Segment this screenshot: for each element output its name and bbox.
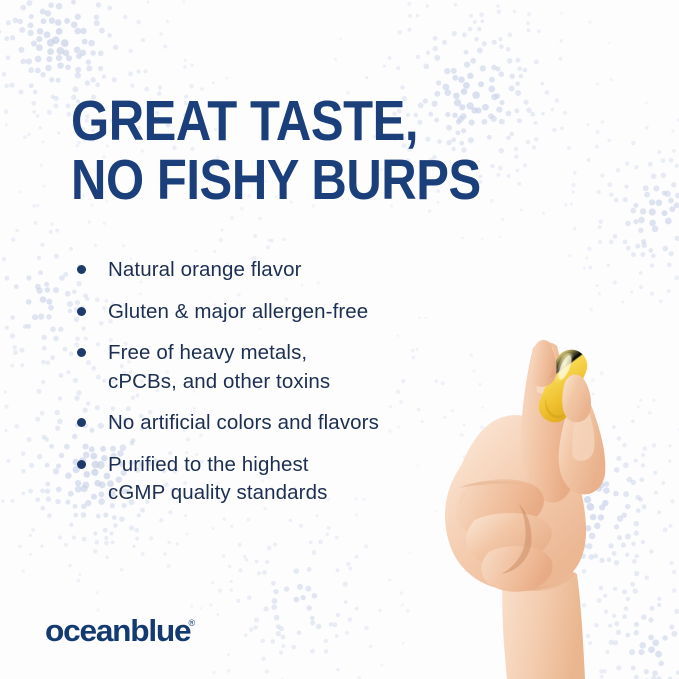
headline-line-2: NO FISHY BURPS: [71, 151, 475, 210]
index-tip-overlap: [531, 340, 556, 387]
bullet-dot-icon: [77, 307, 86, 316]
capsule-highlight: [556, 354, 574, 381]
thumb-tip-overlap: [562, 375, 591, 423]
list-item: Gluten & major allergen-free: [72, 298, 472, 327]
list-item: Free of heavy metals, cPCBs, and other t…: [72, 339, 472, 396]
list-item-label: Purified to the highest cGMP quality sta…: [108, 451, 472, 508]
list-item: Natural orange flavor: [72, 256, 472, 285]
capsule-body: [534, 345, 592, 427]
thumb-nail: [572, 402, 594, 461]
list-item-label: Natural orange flavor: [108, 256, 472, 285]
bullet-dot-icon: [77, 265, 86, 274]
thumb: [559, 389, 606, 494]
index-fingernail: [537, 347, 559, 394]
brand-logo-wordmark: oceanblue: [45, 614, 190, 647]
list-item: Purified to the highest cGMP quality sta…: [72, 451, 472, 508]
brand-logo: oceanblue ®: [45, 614, 195, 647]
wrist-shape: [502, 565, 585, 679]
palm-edge-highlight: [511, 570, 577, 591]
list-item: No artificial colors and flavors: [72, 409, 472, 438]
softgel-capsule: [534, 345, 592, 427]
list-item-label: Free of heavy metals, cPCBs, and other t…: [108, 339, 472, 396]
ring-finger-folded: [466, 513, 552, 566]
finger-crease-shadow: [501, 504, 532, 574]
product-benefit-panel: GREAT TASTE, NO FISHY BURPS Natural oran…: [0, 0, 679, 679]
bullet-dot-icon: [77, 418, 86, 427]
bullet-dot-icon: [77, 348, 86, 357]
list-item-label: Gluten & major allergen-free: [108, 298, 472, 327]
capsule-shine: [546, 351, 579, 401]
headline-line-1: GREAT TASTE,: [71, 92, 475, 151]
bullet-dot-icon: [77, 460, 86, 469]
list-item-label: No artificial colors and flavors: [108, 409, 472, 438]
index-finger: [521, 342, 575, 502]
benefit-list: Natural orange flavor Gluten & major all…: [72, 256, 472, 521]
pinky-folded: [482, 546, 553, 592]
headline: GREAT TASTE, NO FISHY BURPS: [71, 92, 541, 210]
capsule-bottom-shade: [540, 396, 570, 421]
